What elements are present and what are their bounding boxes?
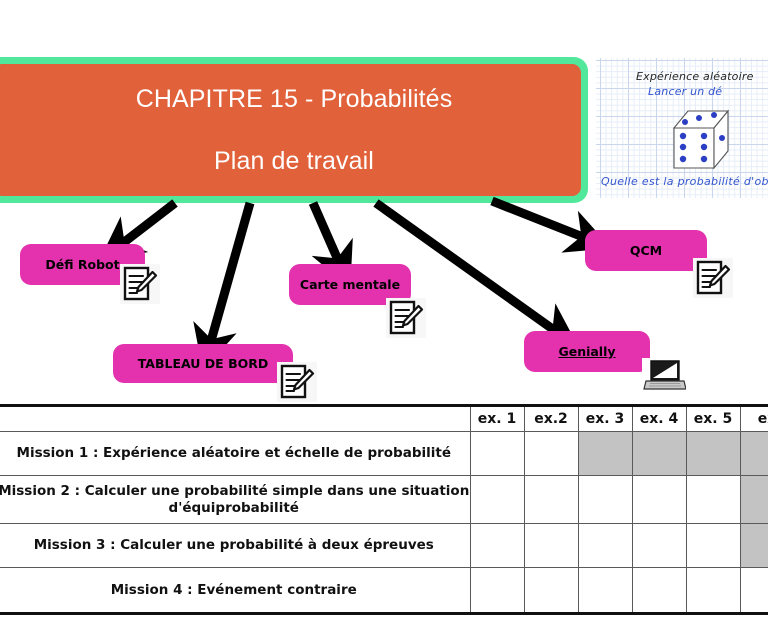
table-header-row: ex. 1 ex.2 ex. 3 ex. 4 ex. 5 ex xyxy=(0,406,768,432)
page-title: CHAPITRE 15 - Probabilités xyxy=(136,84,453,114)
memo-icon[interactable] xyxy=(277,362,317,402)
table-row: Mission 2 : Calculer une probabilité sim… xyxy=(0,476,768,524)
cell-m4-ex2[interactable] xyxy=(524,568,578,614)
arrow-to-tableau xyxy=(211,203,250,341)
mission-label-4: Mission 4 : Evénement contraire xyxy=(0,568,470,614)
illustration-question-text: Quelle est la probabilité d'obten xyxy=(601,175,768,188)
cell-m1-ex6 xyxy=(740,432,768,476)
column-header-ex-5: ex. 5 xyxy=(686,406,740,432)
node-label-tableau-de-bord: TABLEAU DE BORD xyxy=(138,356,268,371)
cell-m3-ex4[interactable] xyxy=(632,524,686,568)
cell-m2-ex4[interactable] xyxy=(632,476,686,524)
cell-m1-ex4 xyxy=(632,432,686,476)
page-subtitle: Plan de travail xyxy=(214,146,374,176)
cell-m2-ex6 xyxy=(740,476,768,524)
node-label-carte-mentale: Carte mentale xyxy=(300,277,400,292)
cell-m2-ex3[interactable] xyxy=(578,476,632,524)
column-header-ex-1: ex. 1 xyxy=(470,406,524,432)
cell-m3-ex2[interactable] xyxy=(524,524,578,568)
column-header-ex-3: ex. 3 xyxy=(578,406,632,432)
table-row: Mission 1 : Expérience aléatoire et éche… xyxy=(0,432,768,476)
node-tableau-de-bord[interactable]: TABLEAU DE BORD xyxy=(113,344,293,383)
cell-m1-ex3 xyxy=(578,432,632,476)
cell-m3-ex6 xyxy=(740,524,768,568)
arrow-to-carte-mentale xyxy=(313,203,338,260)
cell-m4-ex5[interactable] xyxy=(686,568,740,614)
hand-drawn-die-illustration: Expérience aléatoire Lancer un dé Quelle… xyxy=(596,58,768,198)
missions-exercises-table: ex. 1 ex.2 ex. 3 ex. 4 ex. 5 ex Mission … xyxy=(0,404,768,615)
memo-icon[interactable] xyxy=(120,264,160,304)
cell-m3-ex5[interactable] xyxy=(686,524,740,568)
cell-m1-ex2[interactable] xyxy=(524,432,578,476)
chapter-banner: CHAPITRE 15 - Probabilités Plan de trava… xyxy=(0,57,588,203)
node-label-defi-robot: Défi Robot xyxy=(45,257,119,272)
chapter-banner-inner: CHAPITRE 15 - Probabilités Plan de trava… xyxy=(0,64,581,196)
mission-label-2: Mission 2 : Calculer une probabilité sim… xyxy=(0,476,470,524)
cell-m4-ex1[interactable] xyxy=(470,568,524,614)
cell-m1-ex5 xyxy=(686,432,740,476)
laptop-icon[interactable] xyxy=(642,358,686,393)
node-genially[interactable]: Genially xyxy=(524,331,650,372)
cell-m4-ex3[interactable] xyxy=(578,568,632,614)
cell-m4-ex4[interactable] xyxy=(632,568,686,614)
cell-m3-ex3[interactable] xyxy=(578,524,632,568)
node-qcm[interactable]: QCM xyxy=(585,230,707,271)
cell-m3-ex1[interactable] xyxy=(470,524,524,568)
memo-icon[interactable] xyxy=(386,298,426,338)
table-row: Mission 3 : Calculer une probabilité à d… xyxy=(0,524,768,568)
table-row: Mission 4 : Evénement contraire xyxy=(0,568,768,614)
column-header-ex-6: ex xyxy=(740,406,768,432)
mission-label-3: Mission 3 : Calculer une probabilité à d… xyxy=(0,524,470,568)
column-header-ex-4: ex. 4 xyxy=(632,406,686,432)
table-corner-header xyxy=(0,406,470,432)
memo-icon[interactable] xyxy=(693,258,733,298)
cell-m2-ex1[interactable] xyxy=(470,476,524,524)
cell-m4-ex6[interactable] xyxy=(740,568,768,614)
cell-m2-ex2[interactable] xyxy=(524,476,578,524)
column-header-ex-2: ex.2 xyxy=(524,406,578,432)
node-label-genially: Genially xyxy=(558,344,615,359)
node-label-qcm: QCM xyxy=(630,243,662,258)
arrow-to-defi-robot xyxy=(123,203,175,243)
cell-m1-ex1[interactable] xyxy=(470,432,524,476)
cell-m2-ex5[interactable] xyxy=(686,476,740,524)
arrow-to-qcm xyxy=(492,201,583,237)
mission-label-1: Mission 1 : Expérience aléatoire et éche… xyxy=(0,432,470,476)
